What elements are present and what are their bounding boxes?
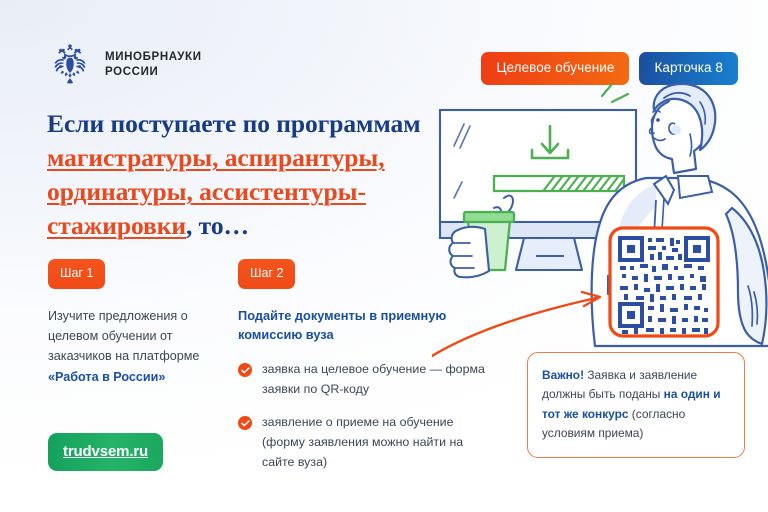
list-item-label: заявление о приеме на обучение (форму за… (262, 413, 490, 472)
step-1-text-plain: Изучите предложения о целевом обучении о… (48, 309, 199, 364)
step-1-badge: Шаг 1 (48, 259, 105, 289)
sparkle-lines-icon (602, 84, 628, 102)
check-circle-icon (238, 363, 252, 377)
headline-part-1: Если поступаете по программам (47, 109, 421, 138)
step-1-platform-name: «Работа в России» (48, 370, 165, 384)
step-2-badge: Шаг 2 (238, 259, 295, 289)
ministry-logo: Минобрнауки России (47, 42, 202, 88)
list-item: заявление о приеме на обучение (форму за… (238, 413, 490, 472)
important-note-box: Важно! Заявка и заявление должны быть по… (527, 352, 745, 458)
qr-code-icon (610, 228, 718, 336)
check-circle-icon (238, 416, 252, 430)
page-title: Если поступаете по программам магистрату… (47, 107, 467, 243)
step-1-column: Шаг 1 Изучите предложения о целевом обуч… (48, 259, 228, 387)
logo-line-1: Минобрнауки (105, 50, 202, 65)
note-important-label: Важно! (542, 368, 584, 382)
step-1-text: Изучите предложения о целевом обучении о… (48, 306, 228, 388)
headline-part-3: , то… (186, 211, 249, 240)
man-at-monitor-with-qr-code-illustration (432, 80, 768, 360)
loading-progress-bar (494, 176, 624, 191)
infographic-poster: Минобрнауки России Целевое обучение Карт… (0, 0, 768, 512)
ministry-logo-text: Минобрнауки России (105, 50, 202, 80)
step-2-bullet-list: заявка на целевое обучение — форма заявк… (238, 360, 490, 472)
russian-coat-of-arms-icon (47, 42, 93, 88)
logo-line-2: России (105, 65, 202, 80)
trudvsem-link-button[interactable]: trudvsem.ru (48, 433, 163, 471)
